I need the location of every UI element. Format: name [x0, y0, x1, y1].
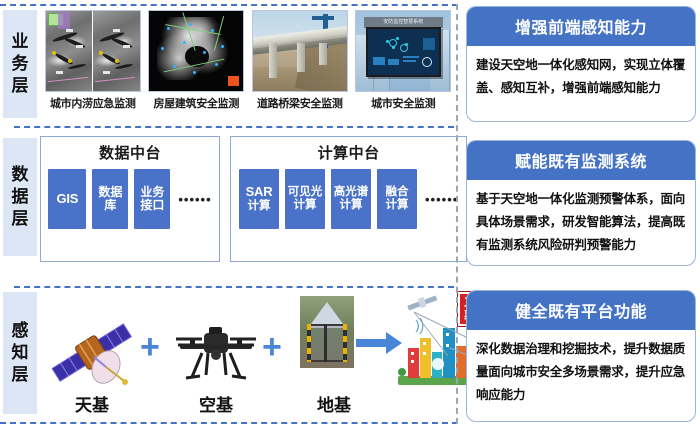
business-card[interactable]: 安防监控智慧系统	[355, 10, 453, 111]
divider-data-perception	[14, 286, 454, 288]
layer-label-char: 层	[12, 208, 29, 230]
chip-line: 计算	[294, 199, 317, 212]
platform-chip-row: GIS 数据 库 业务 接口 ••••••	[40, 169, 219, 229]
platform-chip[interactable]: 高光谱 计算	[331, 169, 371, 229]
diagram-root: 业 务 层	[0, 0, 700, 428]
layer-label-char: 知	[12, 342, 29, 364]
business-card-caption: 房屋建筑安全监测	[153, 95, 239, 111]
platform-ellipsis: ••••••	[425, 192, 458, 207]
layer-label-char: 据	[12, 186, 29, 208]
business-card[interactable]: 道路桥梁安全监测	[251, 10, 349, 111]
platform-chip[interactable]: 业务 接口	[134, 169, 170, 229]
chip-line: 业务	[140, 186, 164, 199]
info-card-monitoring[interactable]: 赋能既有监测系统 基于天空地一体化监测预警体系，面向具体场景需求，研发智能算法，…	[466, 140, 696, 266]
info-card-body: 基于天空地一体化监测预警体系，面向具体场景需求，研发智能算法，提高既有监测系统风…	[467, 180, 695, 257]
business-card-caption: 城市安全监测	[371, 95, 435, 111]
layer-label-char: 层	[12, 364, 29, 386]
sar-flood-icon	[46, 11, 140, 91]
business-card[interactable]: 房屋建筑安全监测	[148, 10, 246, 111]
layer-label-business: 业 务 层	[3, 10, 37, 118]
layer-label-data: 数 据 层	[3, 138, 37, 256]
divider-top	[0, 4, 458, 6]
chip-line: 数据	[98, 186, 122, 199]
divider-vertical-right	[456, 4, 458, 424]
info-cards-column: 增强前端感知能力 建设天空地一体化感知网，实现立体覆盖、感知互补，增强前端感知能…	[464, 0, 700, 428]
layer-label-perception: 感 知 层	[3, 292, 37, 414]
plus-operator-icon: +	[262, 330, 282, 364]
chip-line: 计算	[386, 199, 409, 212]
platform-ellipsis: ••••••	[178, 192, 211, 207]
layer-perception: 感 知 层	[0, 290, 458, 425]
layer-label-char: 感	[12, 320, 29, 342]
plus-operator-icon: +	[140, 330, 160, 364]
platform-chip[interactable]: 数据 库	[92, 169, 128, 229]
data-platform-box[interactable]: 数据中台 GIS 数据 库 业务 接口 ••••••	[40, 136, 220, 262]
business-card[interactable]: 城市内涝应急监测	[44, 10, 142, 111]
bridge-thumbnail	[252, 10, 348, 92]
info-card-perception[interactable]: 增强前端感知能力 建设天空地一体化感知网，实现立体覆盖、感知互补，增强前端感知能…	[466, 6, 696, 122]
layer-label-char: 数	[12, 164, 29, 186]
chip-line: 接口	[140, 199, 164, 212]
chip-line: 可见光	[288, 186, 323, 199]
chip-line: 计算	[248, 200, 271, 213]
point-cloud-thumbnail	[148, 10, 244, 92]
business-card-caption: 道路桥梁安全监测	[257, 95, 343, 111]
chip-line: 计算	[340, 199, 363, 212]
platform-chip[interactable]: GIS	[48, 169, 86, 229]
info-card-body: 建设天空地一体化感知网，实现立体覆盖、感知互补，增强前端感知能力	[467, 46, 695, 100]
platform-chip-row: SAR 计算 可见光 计算 高光谱 计算 融合	[231, 169, 466, 229]
info-card-title: 赋能既有监测系统	[467, 141, 695, 180]
layer-label-char: 业	[12, 31, 29, 53]
chip-line: SAR	[246, 185, 273, 200]
divider-business-data	[14, 126, 454, 128]
platform-chip[interactable]: SAR 计算	[239, 169, 279, 229]
perception-item-air[interactable]: 空基	[168, 292, 264, 418]
business-card-caption: 城市内涝应急监测	[50, 95, 136, 111]
perception-item-space[interactable]: 天基	[44, 292, 140, 418]
ground-station-icon	[300, 296, 354, 368]
info-card-body: 深化数据治理和挖掘技术，提升数据质量面向城市安全多场景需求，提升应急响应能力	[467, 330, 695, 407]
perception-item-ground[interactable]: 地基	[286, 292, 382, 418]
city-safety-dashboard-icon: 安防监控智慧系统	[356, 11, 450, 91]
perception-item-list: 天基 +	[40, 290, 458, 425]
layer-business: 业 务 层	[0, 10, 458, 120]
platform-title: 计算中台	[318, 142, 380, 163]
business-card-list: 城市内涝应急监测	[44, 10, 452, 120]
platform-title: 数据中台	[99, 142, 161, 163]
sar-flood-thumbnail	[45, 10, 141, 92]
chip-line: 融合	[386, 186, 409, 199]
layer-data: 数 据 层 数据中台 GIS 数据 库	[0, 136, 458, 262]
layer-label-char: 层	[12, 75, 29, 97]
info-card-title: 增强前端感知能力	[467, 7, 695, 46]
platform-chip[interactable]: 可见光 计算	[285, 169, 325, 229]
platform-chip[interactable]: 融合 计算	[377, 169, 417, 229]
compute-platform-box[interactable]: 计算中台 SAR 计算 可见光 计算 高光谱 计算	[230, 136, 467, 262]
perception-caption: 地基	[286, 391, 382, 416]
bridge-photo-icon	[253, 11, 347, 91]
layer-label-char: 务	[12, 53, 29, 75]
perception-caption: 空基	[168, 391, 264, 416]
data-platform-list: 数据中台 GIS 数据 库 业务 接口 ••••••	[40, 136, 454, 262]
chip-line: GIS	[56, 192, 78, 207]
chip-line: 库	[104, 199, 116, 212]
city-safety-thumbnail: 安防监控智慧系统	[355, 10, 451, 92]
perception-caption: 天基	[44, 391, 140, 416]
point-cloud-building-icon	[149, 11, 243, 91]
info-card-title: 健全既有平台功能	[467, 291, 695, 330]
chip-line: 高光谱	[334, 186, 369, 199]
info-card-platform[interactable]: 健全既有平台功能 深化数据治理和挖掘技术，提升数据质量面向城市安全多场景需求，提…	[466, 290, 696, 422]
layers-column: 业 务 层	[0, 0, 458, 428]
